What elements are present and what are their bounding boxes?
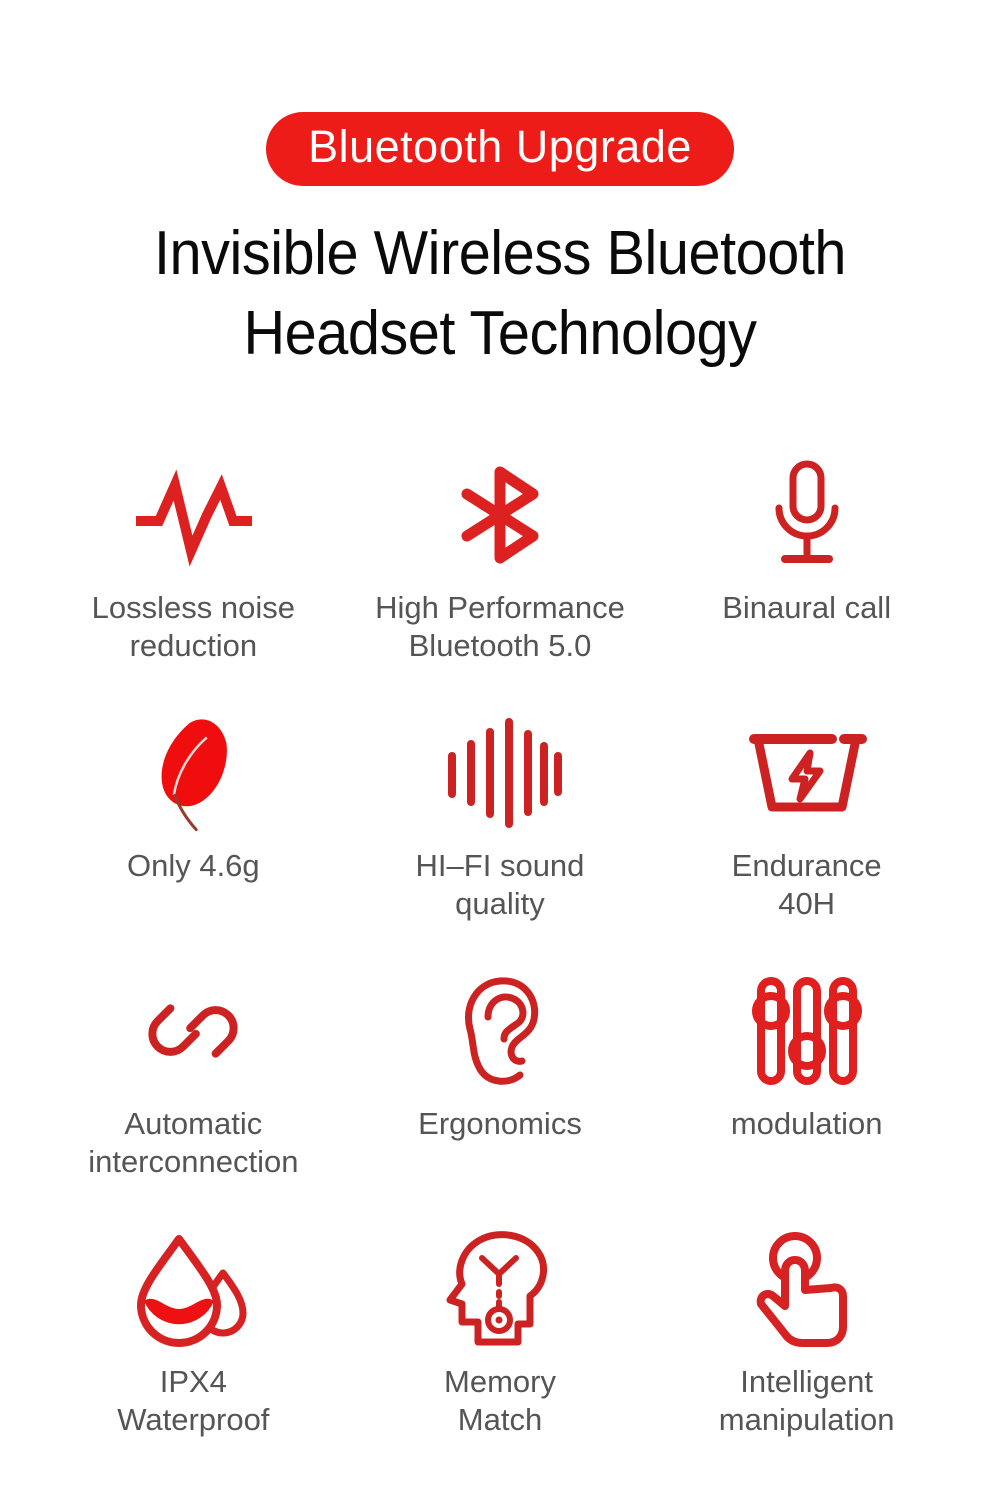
feature-label: High Performance Bluetooth 5.0	[375, 589, 625, 665]
feature-label: Lossless noise reduction	[92, 589, 295, 665]
feature-item-ergonomics: Ergonomics	[347, 971, 654, 1229]
microphone-icon	[757, 455, 857, 575]
feature-label: modulation	[731, 1105, 883, 1143]
sound-bars-icon	[440, 713, 560, 833]
feature-item-hifi-sound: HI–FI sound quality	[347, 713, 654, 971]
bluetooth-upgrade-badge: Bluetooth Upgrade	[266, 112, 734, 186]
feature-infographic: Bluetooth Upgrade Invisible Wireless Blu…	[0, 0, 1000, 1509]
feature-label: Endurance 40H	[732, 847, 882, 923]
head-memory-icon	[444, 1229, 556, 1349]
feature-grid: Lossless noise reduction High Performanc…	[40, 455, 960, 1487]
feature-label: Ergonomics	[418, 1105, 582, 1143]
water-drops-icon	[131, 1229, 255, 1349]
feature-item-bluetooth-5: High Performance Bluetooth 5.0	[347, 455, 654, 713]
feature-item-binaural-call: Binaural call	[653, 455, 960, 713]
page-title-line1: Invisible Wireless Bluetooth	[154, 219, 846, 288]
feature-item-endurance: Endurance 40H	[653, 713, 960, 971]
feature-item-memory-match: Memory Match	[347, 1229, 654, 1487]
badge-row: Bluetooth Upgrade	[0, 112, 1000, 186]
feature-label: Automatic interconnection	[88, 1105, 298, 1181]
feature-label: Memory Match	[444, 1363, 556, 1439]
feature-label: HI–FI sound quality	[416, 847, 585, 923]
touch-hand-icon	[751, 1229, 863, 1349]
feature-label: IPX4 Waterproof	[117, 1363, 269, 1439]
page-title-line2: Headset Technology	[35, 294, 965, 374]
sliders-icon	[747, 971, 867, 1091]
feature-item-auto-interconnection: Automatic interconnection	[40, 971, 347, 1229]
feature-label: Intelligent manipulation	[719, 1363, 895, 1439]
ear-icon	[450, 971, 550, 1091]
feature-item-weight: Only 4.6g	[40, 713, 347, 971]
feature-label: Only 4.6g	[127, 847, 260, 885]
feature-item-lossless-noise-reduction: Lossless noise reduction	[40, 455, 347, 713]
feature-label: Binaural call	[722, 589, 891, 627]
feature-item-waterproof: IPX4 Waterproof	[40, 1229, 347, 1487]
waveform-icon	[133, 455, 253, 575]
feature-item-intelligent-manipulation: Intelligent manipulation	[653, 1229, 960, 1487]
chain-link-icon	[135, 971, 251, 1091]
page-title: Invisible Wireless Bluetooth Headset Tec…	[35, 214, 965, 374]
battery-bolt-icon	[746, 713, 868, 833]
bluetooth-icon	[445, 455, 555, 575]
feather-icon	[133, 713, 253, 833]
feature-item-modulation: modulation	[653, 971, 960, 1229]
